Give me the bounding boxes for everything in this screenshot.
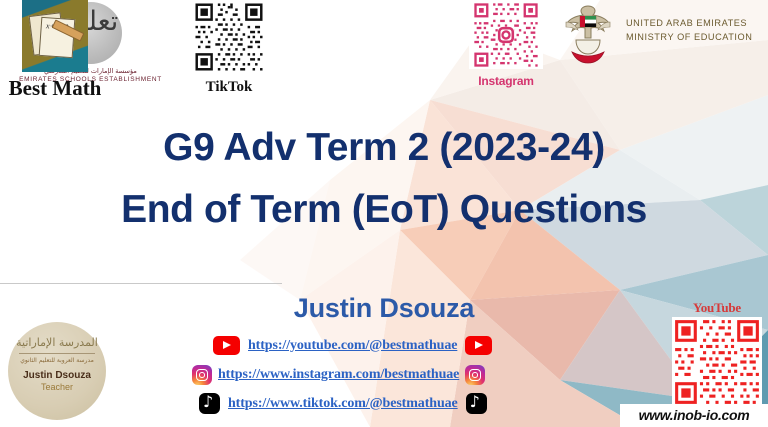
notepad-pencil-icon: x+1=0 [22,0,88,72]
instagram-link-text[interactable]: https://www.instagram.com/bestmathuae [218,367,459,383]
ese-english-text: EMIRATES SCHOOLS ESTABLISHMENT [8,76,173,83]
link-row-instagram[interactable]: https://www.instagram.com/bestmathuae [192,365,485,385]
youtube-icon-right[interactable] [465,336,492,355]
instagram-qr-label: Instagram [466,74,546,88]
moe-text-block: UNITED ARAB EMIRATES MINISTRY OF EDUCATI… [626,2,752,44]
youtube-icon[interactable] [213,336,240,355]
instagram-icon[interactable] [192,365,212,385]
slide-title-line-2: End of Term (EoT) Questions [0,188,768,232]
presentation-slide: مؤسسة الإمارات للتعليم المدرسي EMIRATES … [0,0,768,427]
youtube-qr-label: YouTube [671,300,763,316]
tiktok-icon-right[interactable] [466,393,487,414]
instagram-icon-right[interactable] [465,365,485,385]
tiktok-qr-code-icon[interactable] [190,1,268,73]
youtube-link-text[interactable]: https://youtube.com/@bestmathuae [248,338,457,354]
tiktok-link-text[interactable]: https://www.tiktok.com/@bestmathuae [228,396,458,412]
tiktok-qr-label: TikTok [183,79,275,96]
moe-line-2: MINISTRY OF EDUCATION [626,30,752,44]
badge-arabic-school: المدرسة الإماراتية [8,337,106,348]
instagram-qr-code-icon[interactable] [469,1,543,69]
youtube-qr-block[interactable]: YouTube [671,300,763,412]
teacher-badge: المدرسة الإماراتية مدرسة العروبة للتعليم… [8,322,106,420]
badge-teacher-name: Justin Dsouza [8,370,106,381]
moe-logo: UNITED ARAB EMIRATES MINISTRY OF EDUCATI… [558,2,768,68]
horizontal-divider [0,283,282,284]
youtube-qr-code-icon[interactable] [672,317,762,407]
watermark: www.inob-io.com [620,404,768,427]
uae-falcon-emblem-icon [558,2,618,68]
slide-title-line-1: G9 Adv Term 2 (2023-24) [0,126,768,170]
tiktok-icon[interactable] [199,393,220,414]
tiktok-qr-block[interactable]: TikTok [183,1,275,96]
link-row-tiktok[interactable]: https://www.tiktok.com/@bestmathuae [199,393,487,414]
header-logos-row: مؤسسة الإمارات للتعليم المدرسي EMIRATES … [0,0,768,105]
instagram-qr-block[interactable]: Instagram [466,1,546,88]
author-name: Justin Dsouza [0,293,768,324]
moe-line-1: UNITED ARAB EMIRATES [626,16,752,30]
link-row-youtube[interactable]: https://youtube.com/@bestmathuae [213,336,492,355]
badge-arabic-sub: مدرسة العروبة للتعليم الثانوي [19,353,95,364]
badge-teacher-role: Teacher [8,382,106,392]
